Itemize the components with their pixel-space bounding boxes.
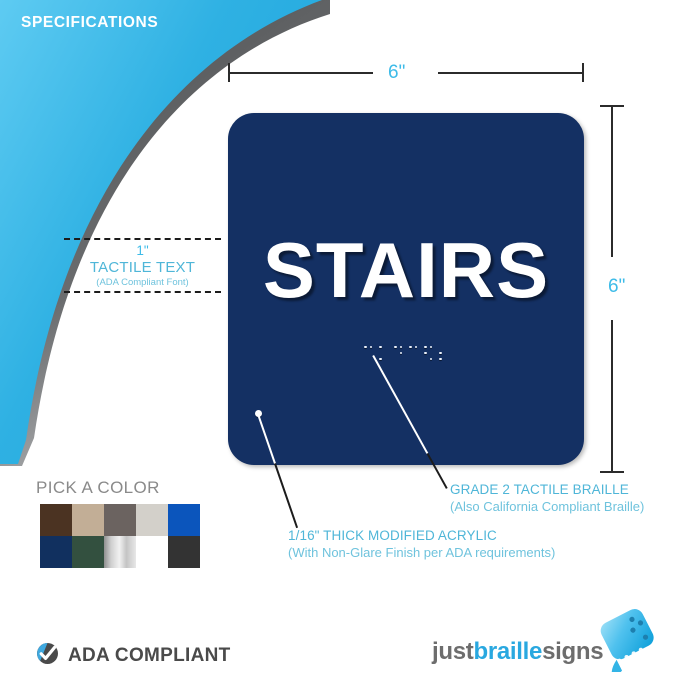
brand-logo-text: justbraillesigns (432, 638, 603, 666)
logo-part-signs: signs (542, 638, 603, 665)
color-swatch-warm-gray[interactable] (104, 504, 136, 536)
braille-dot (424, 352, 427, 355)
braille-dot (370, 346, 373, 349)
color-swatch-charcoal[interactable] (168, 536, 200, 568)
color-swatch-navy-blue[interactable] (40, 536, 72, 568)
acrylic-leader-seg-black (274, 463, 298, 528)
page-title: SPECIFICATIONS (21, 14, 158, 32)
dim-top-right-tick (582, 63, 584, 82)
dim-right-top-line (611, 105, 613, 257)
ada-compliant-label: ADA COMPLIANT (68, 645, 231, 667)
sign-text: STAIRS (228, 231, 584, 309)
tactile-bottom-rule (64, 291, 221, 293)
color-swatch-white[interactable] (136, 536, 168, 568)
braille-dot (439, 358, 442, 361)
braille-dot (430, 346, 433, 349)
tactile-size-label: 1" (64, 243, 221, 259)
brand-logo[interactable]: justbraillesigns (432, 608, 662, 672)
pick-a-color-title: PICK A COLOR (36, 478, 160, 498)
braille-dot (394, 346, 397, 349)
braille-dot (400, 346, 403, 349)
callout-acrylic-main: 1/16" THICK MODIFIED ACRYLIC (288, 527, 555, 545)
braille-cell-6 (439, 345, 448, 362)
color-swatch-grid[interactable] (40, 504, 200, 568)
braille-dot (430, 358, 433, 361)
callout-braille: GRADE 2 TACTILE BRAILLE (Also California… (450, 481, 644, 515)
dim-right-bottom-line (611, 320, 613, 472)
braille-cell-1 (364, 345, 373, 362)
braille-dot (415, 346, 418, 349)
callout-acrylic-sub: (With Non-Glare Finish per ADA requireme… (288, 545, 555, 562)
logo-part-just: just (432, 638, 473, 665)
braille-cell-3 (394, 345, 403, 362)
braille-dot (424, 346, 427, 349)
check-badge-icon (36, 642, 59, 670)
braille-cell-5 (424, 345, 433, 362)
braille-dot (439, 352, 442, 355)
dim-height-label: 6" (608, 276, 625, 298)
braille-dot (379, 358, 382, 361)
braille-dot (400, 352, 403, 355)
tactile-text-annotation: 1" TACTILE TEXT (ADA Compliant Font) (64, 238, 221, 293)
dim-top-left-line (228, 72, 373, 74)
braille-hand-icon (596, 608, 662, 672)
color-swatch-dark-brown[interactable] (40, 504, 72, 536)
color-swatch-light-gray[interactable] (136, 504, 168, 536)
braille-cell-2 (379, 345, 388, 362)
braille-dot (379, 346, 382, 349)
tactile-main-label: TACTILE TEXT (64, 259, 221, 277)
braille-dot (364, 346, 367, 349)
callout-braille-main: GRADE 2 TACTILE BRAILLE (450, 481, 644, 499)
callout-acrylic: 1/16" THICK MODIFIED ACRYLIC (With Non-G… (288, 527, 555, 561)
dim-width-label: 6" (388, 62, 405, 84)
color-swatch-brushed-silver[interactable] (104, 536, 136, 568)
callout-braille-sub: (Also California Compliant Braille) (450, 499, 644, 516)
dim-right-bottom-cap (600, 471, 624, 473)
ada-compliant-badge: ADA COMPLIANT (36, 642, 231, 670)
color-swatch-forest-green[interactable] (72, 536, 104, 568)
logo-part-braille: braille (473, 638, 542, 665)
specification-sheet: SPECIFICATIONS 6" 6" STAIRS 1" TACTILE T… (0, 0, 679, 680)
tactile-sub-label: (ADA Compliant Font) (64, 277, 221, 289)
braille-dot (409, 346, 412, 349)
color-swatch-tan-beige[interactable] (72, 504, 104, 536)
color-swatch-bright-blue[interactable] (168, 504, 200, 536)
dim-top-right-line (438, 72, 583, 74)
braille-cell-4 (409, 345, 418, 362)
